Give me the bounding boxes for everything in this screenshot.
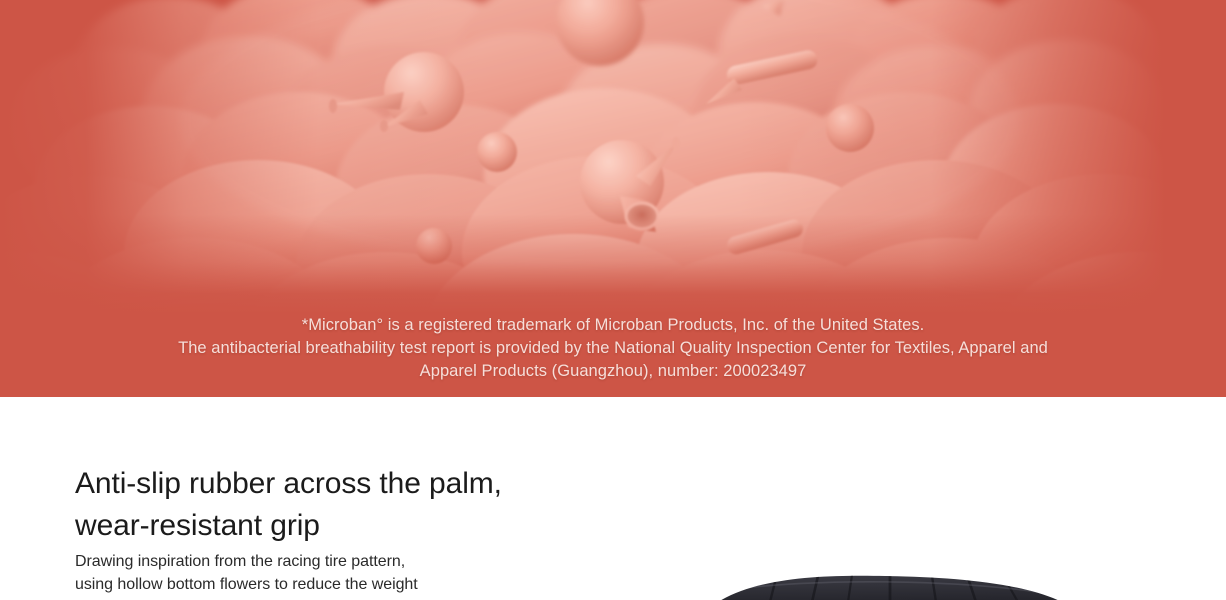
disclaimer-line-3: Apparel Products (Guangzhou), number: 20… xyxy=(0,360,1226,383)
headline-line-1: Anti-slip rubber across the palm, xyxy=(75,463,502,505)
feature-description: Drawing inspiration from the racing tire… xyxy=(75,550,418,596)
disclaimer-text: *Microban° is a registered trademark of … xyxy=(0,314,1226,383)
description-line-2: using hollow bottom flowers to reduce th… xyxy=(75,573,418,596)
disclaimer-line-1: *Microban° is a registered trademark of … xyxy=(0,314,1226,337)
disclaimer-line-2: The antibacterial breathability test rep… xyxy=(0,337,1226,360)
description-line-1: Drawing inspiration from the racing tire… xyxy=(75,550,418,573)
feature-headline: Anti-slip rubber across the palm, wear-r… xyxy=(75,463,502,547)
product-detail-page: *Microban° is a registered trademark of … xyxy=(0,0,1226,600)
headline-line-2: wear-resistant grip xyxy=(75,505,502,547)
hero-banner: *Microban° is a registered trademark of … xyxy=(0,0,1226,397)
feature-section: Anti-slip rubber across the palm, wear-r… xyxy=(0,397,1226,600)
